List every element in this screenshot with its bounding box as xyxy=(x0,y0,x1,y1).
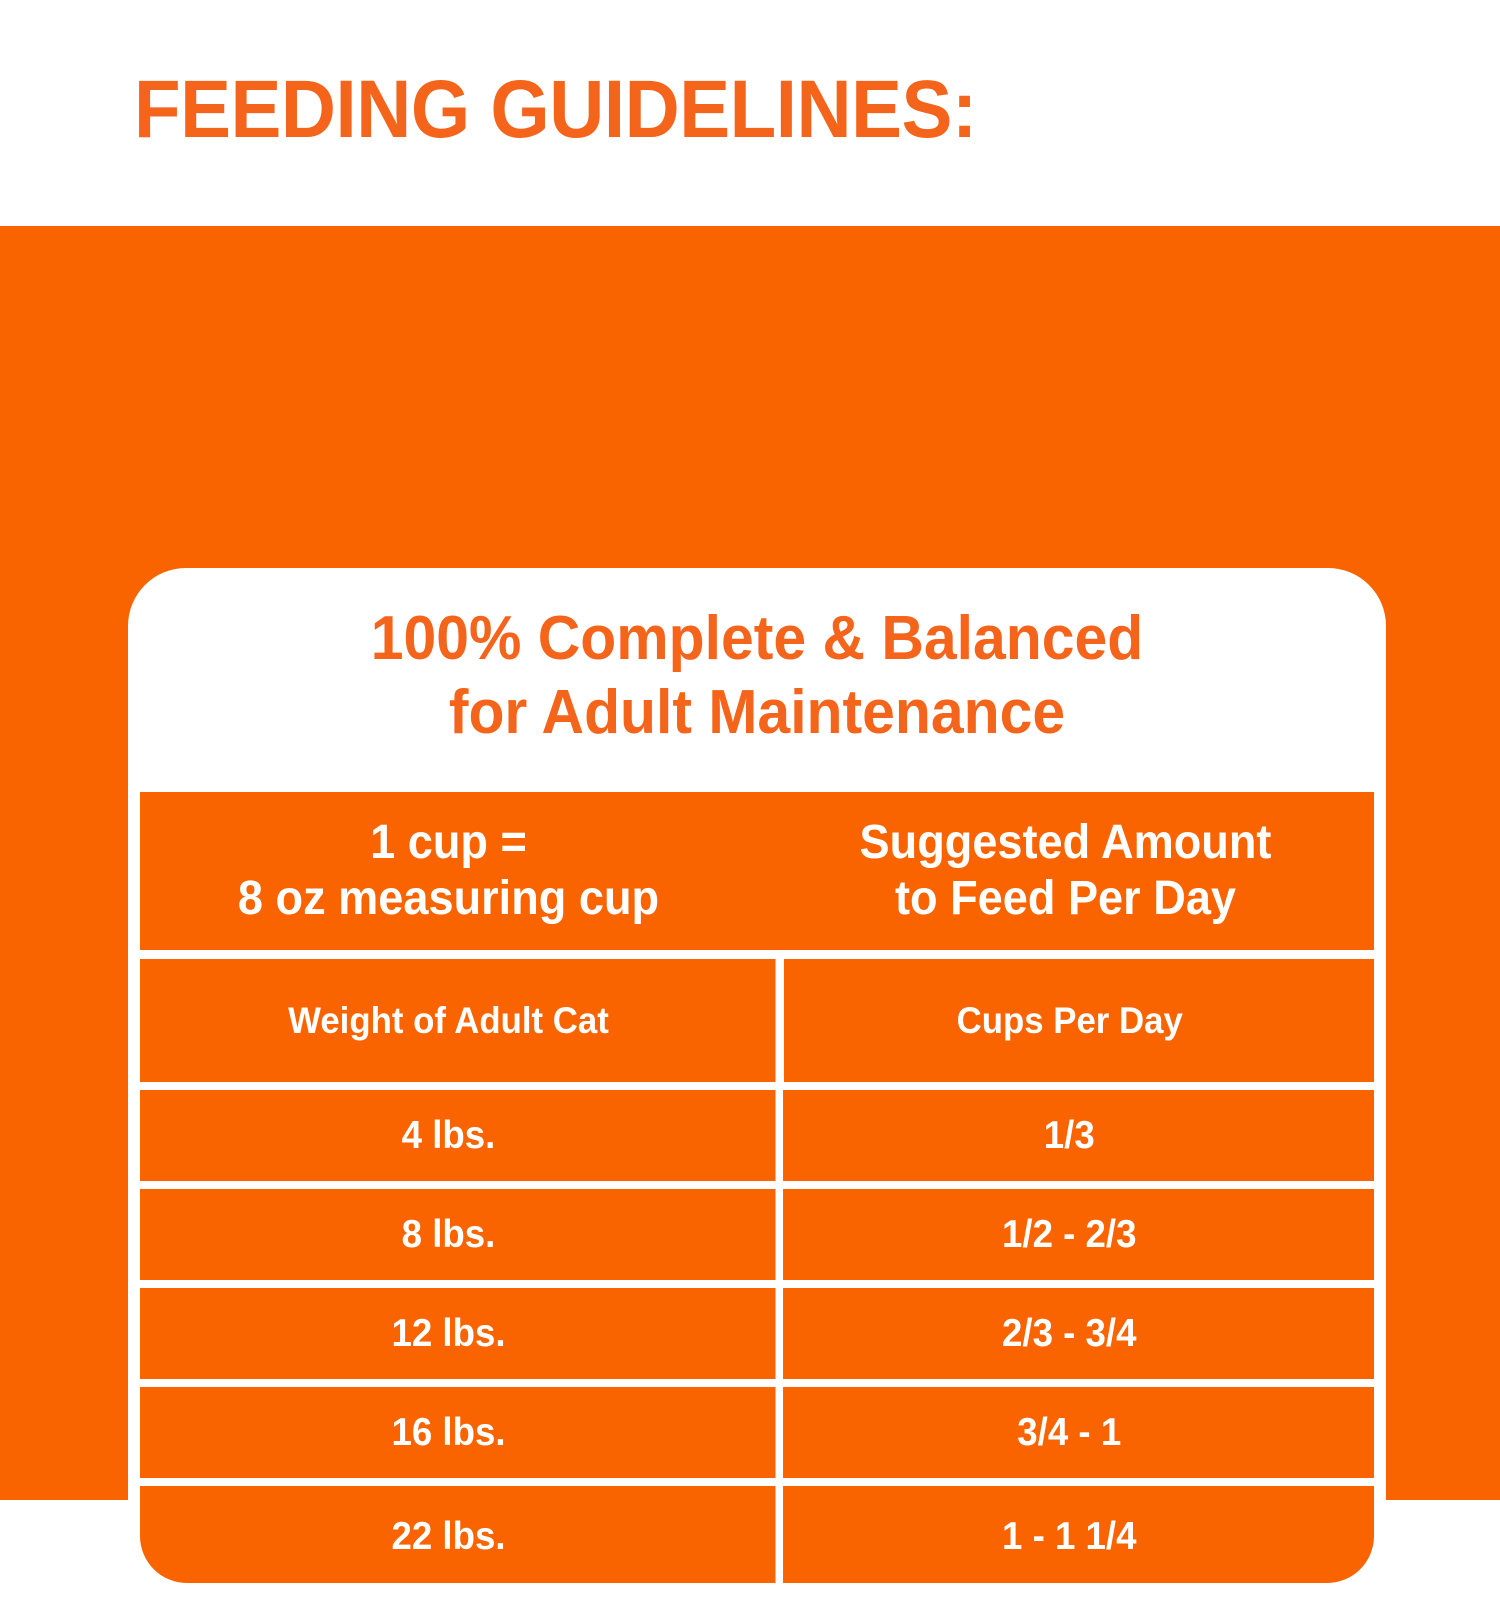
cell-weight: 12 lbs. xyxy=(159,1288,739,1379)
page-title: FEEDING GUIDELINES: xyxy=(134,62,977,158)
feeding-guidelines-panel: FEEDING GUIDELINES: 100% Complete & Bala… xyxy=(0,0,1500,1500)
orange-background: 100% Complete & Balanced for Adult Maint… xyxy=(0,226,1500,1500)
banner-amount-line-1: Suggested Amount xyxy=(860,816,1272,869)
header-band: FEEDING GUIDELINES: xyxy=(0,0,1500,226)
cell-weight: 22 lbs. xyxy=(159,1486,739,1587)
column-header-weight: Weight of Adult Cat xyxy=(159,959,739,1082)
banner-cup-line-2: 8 oz measuring cup xyxy=(238,872,659,925)
table-row: 16 lbs. 3/4 - 1 xyxy=(140,1379,1374,1478)
cell-weight: 16 lbs. xyxy=(159,1387,739,1478)
table-banner-row: 1 cup = 8 oz measuring cup Suggested Amo… xyxy=(140,792,1374,950)
table-row: 4 lbs. 1/3 xyxy=(140,1082,1374,1181)
feeding-card: 100% Complete & Balanced for Adult Maint… xyxy=(128,568,1386,1600)
cell-cups: 1 - 1 1/4 xyxy=(776,1486,1356,1587)
table-row: 22 lbs. 1 - 1 1/4 xyxy=(140,1478,1374,1587)
cell-weight: 4 lbs. xyxy=(159,1090,739,1181)
cell-cups: 1/3 xyxy=(776,1090,1356,1181)
cell-weight: 8 lbs. xyxy=(159,1189,739,1280)
cell-cups: 3/4 - 1 xyxy=(776,1387,1356,1478)
banner-amount-line-2: to Feed Per Day xyxy=(895,872,1236,925)
card-title: 100% Complete & Balanced for Adult Maint… xyxy=(159,602,1354,750)
cell-cups: 2/3 - 3/4 xyxy=(776,1288,1356,1379)
feeding-table: 1 cup = 8 oz measuring cup Suggested Amo… xyxy=(131,792,1383,1592)
table-header-row: Weight of Adult Cat Cups Per Day xyxy=(140,950,1374,1082)
table-row: 12 lbs. 2/3 - 3/4 xyxy=(140,1280,1374,1379)
card-title-line-2: for Adult Maintenance xyxy=(159,676,1354,750)
banner-cell-suggested-amount: Suggested Amount to Feed Per Day xyxy=(776,792,1356,950)
banner-cup-line-1: 1 cup = xyxy=(370,816,527,869)
cell-cups: 1/2 - 2/3 xyxy=(776,1189,1356,1280)
column-header-cups: Cups Per Day xyxy=(776,959,1356,1082)
card-title-line-1: 100% Complete & Balanced xyxy=(371,604,1144,673)
table-row: 8 lbs. 1/2 - 2/3 xyxy=(140,1181,1374,1280)
banner-cell-cup-definition: 1 cup = 8 oz measuring cup xyxy=(159,792,739,950)
